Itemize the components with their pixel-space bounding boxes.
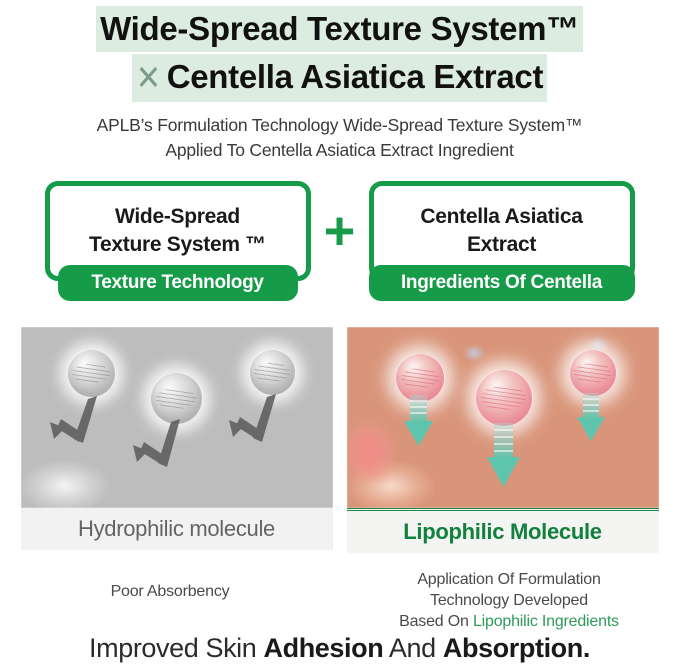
plus-icon: +: [311, 181, 369, 281]
title-line-1: Wide-Spread Texture System™: [0, 6, 679, 52]
panel-notes: Poor Absorbency Application Of Formulati…: [0, 569, 679, 633]
hydrophilic-note: Poor Absorbency: [14, 583, 326, 601]
panel-lipophilic: Lipophilic Molecule: [347, 327, 659, 567]
title-line-2-text: Centella Asiatica Extract: [167, 58, 543, 95]
badge-right-line2: Extract: [459, 233, 544, 256]
absorption-arrows-teal: [347, 327, 659, 508]
title-line-1-text: Wide-Spread Texture System™: [96, 6, 583, 52]
lipophilic-note-prefix: Based On: [399, 613, 473, 630]
hydrophilic-caption: Hydrophilic molecule: [21, 508, 333, 550]
lipophilic-note-highlight: Lipophilic Ingredients: [473, 613, 619, 630]
comparison-panels: Hydrophilic molecule: [0, 327, 679, 567]
headline-part-2: And: [383, 633, 443, 663]
hydrophilic-illustration: [21, 327, 333, 508]
badge-right-line1: Centella Asiatica: [412, 205, 590, 228]
headline-part-1: Improved Skin: [89, 633, 263, 663]
header-title-block: Wide-Spread Texture System™ ✕Centella As…: [0, 0, 679, 102]
badge-centella-ingredients: Centella AsiaticaExtract Ingredients Of …: [369, 181, 635, 301]
subtitle-line-2: Applied To Centella Asiatica Extract Ing…: [0, 138, 679, 163]
lipophilic-note-line-2: Technology Developed: [353, 590, 665, 611]
badge-left-band: Texture Technology: [58, 265, 298, 301]
rejection-arrows-gray: [21, 327, 333, 508]
badge-right-card-text: Centella AsiaticaExtract: [404, 203, 598, 259]
infographic-root: Wide-Spread Texture System™ ✕Centella As…: [0, 0, 679, 668]
lipophilic-note-line-3: Based On Lipophilic Ingredients: [353, 611, 665, 632]
title-line-2: ✕Centella Asiatica Extract: [0, 54, 679, 102]
lipophilic-note-line-1: Application Of Formulation: [353, 569, 665, 590]
footer-headline: Improved Skin Adhesion And Absorption.: [0, 633, 679, 664]
badge-right-band: Ingredients Of Centella: [369, 265, 635, 301]
subtitle: APLB’s Formulation Technology Wide-Sprea…: [0, 113, 679, 163]
badge-row: Wide-SpreadTexture System ™ Texture Tech…: [0, 181, 679, 315]
lipophilic-note: Application Of Formulation Technology De…: [353, 569, 665, 632]
headline-bold-absorption: Absorption.: [443, 633, 590, 663]
badge-texture-technology: Wide-SpreadTexture System ™ Texture Tech…: [45, 181, 311, 301]
lipophilic-illustration: [347, 327, 659, 508]
badge-left-card-text: Wide-SpreadTexture System ™: [73, 203, 282, 259]
headline-bold-adhesion: Adhesion: [264, 633, 384, 663]
badge-left-line2: Texture System ™: [81, 233, 274, 256]
subtitle-line-1: APLB’s Formulation Technology Wide-Sprea…: [0, 113, 679, 138]
panel-hydrophilic: Hydrophilic molecule: [21, 327, 333, 567]
title-line-2-wrap: ✕Centella Asiatica Extract: [132, 54, 547, 102]
badge-left-line1: Wide-Spread: [107, 205, 248, 228]
lipophilic-caption: Lipophilic Molecule: [347, 508, 659, 553]
cross-icon: ✕: [136, 54, 161, 105]
